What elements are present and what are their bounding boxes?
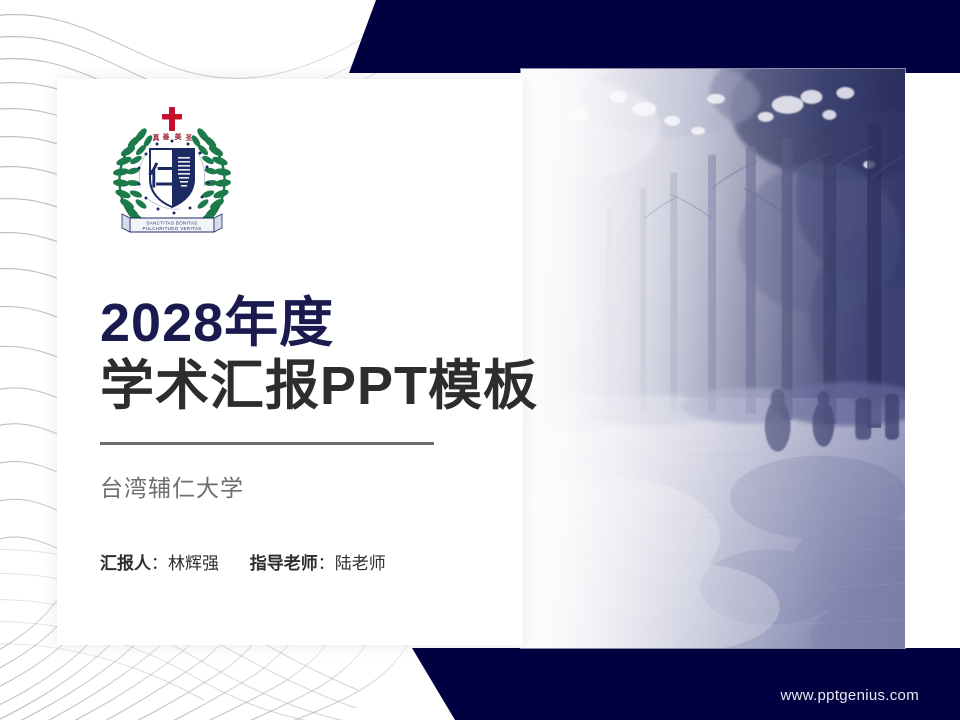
advisor-label: 指导老师: [250, 554, 318, 573]
svg-text:SANCTITAS BONITAS: SANCTITAS BONITAS: [146, 221, 197, 226]
cross-icon: [162, 107, 182, 131]
title-block: 2028年度 学术汇报PPT模板 台湾辅仁大学 汇报人：林辉强 指导老师：陆老师: [100, 294, 720, 574]
content-card: 真 善 美 圣: [57, 79, 523, 645]
svg-text:仁: 仁: [148, 161, 174, 191]
reporter-name: 林辉强: [168, 554, 219, 573]
advisor-separator: ：: [318, 554, 335, 573]
shield-icon: 仁: [148, 149, 194, 207]
page-title-line-2: 学术汇报PPT模板: [100, 356, 720, 416]
svg-text:真: 真: [153, 133, 160, 142]
title-divider: [100, 442, 434, 445]
advisor-name: 陆老师: [335, 554, 386, 573]
page-title-line-1: 2028年度: [100, 294, 720, 352]
site-watermark: www.pptgenius.com: [781, 687, 920, 704]
svg-text:PULCHRITUDO VERITAS: PULCHRITUDO VERITAS: [143, 226, 202, 231]
organization-name: 台湾辅仁大学: [100, 469, 720, 503]
presenter-line: 汇报人：林辉强 指导老师：陆老师: [100, 549, 720, 574]
reporter-separator: ：: [151, 554, 168, 573]
reporter-label: 汇报人: [100, 554, 151, 573]
presentation-slide: 真 善 美 圣: [0, 0, 960, 720]
university-logo: 真 善 美 圣: [100, 101, 244, 241]
svg-text:善: 善: [163, 132, 170, 141]
svg-text:美: 美: [175, 132, 183, 141]
navy-bottom-band: [0, 640, 960, 720]
